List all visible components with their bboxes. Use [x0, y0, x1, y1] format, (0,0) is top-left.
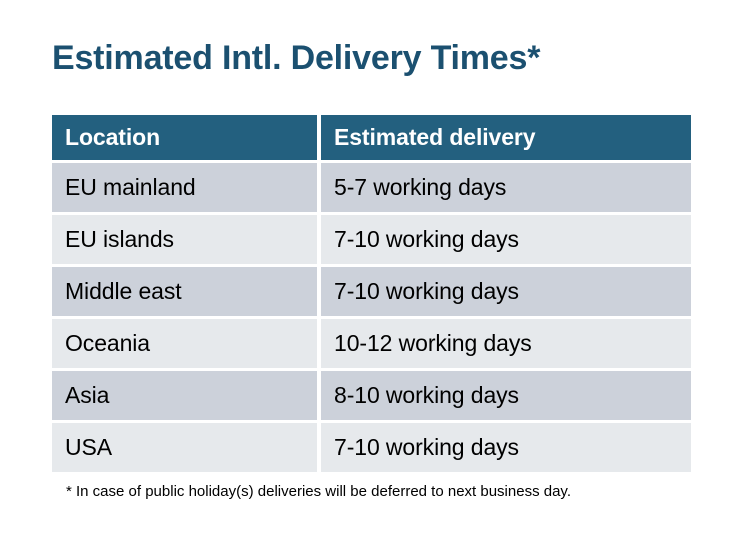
column-header-location: Location — [52, 115, 317, 160]
cell-location: Middle east — [52, 267, 317, 316]
table-row: Asia 8-10 working days — [52, 371, 691, 420]
cell-estimated-delivery: 5-7 working days — [321, 163, 691, 212]
cell-estimated-delivery: 7-10 working days — [321, 215, 691, 264]
table-row: USA 7-10 working days — [52, 423, 691, 472]
cell-location: USA — [52, 423, 317, 472]
page-title: Estimated Intl. Delivery Times* — [52, 36, 692, 80]
cell-estimated-delivery: 7-10 working days — [321, 267, 691, 316]
cell-location: EU islands — [52, 215, 317, 264]
table-header-row: Location Estimated delivery — [52, 115, 691, 160]
cell-location: EU mainland — [52, 163, 317, 212]
footnote-text: * In case of public holiday(s) deliverie… — [66, 482, 726, 502]
cell-estimated-delivery: 7-10 working days — [321, 423, 691, 472]
cell-estimated-delivery: 10-12 working days — [321, 319, 691, 368]
table-row: Oceania 10-12 working days — [52, 319, 691, 368]
cell-location: Asia — [52, 371, 317, 420]
cell-location: Oceania — [52, 319, 317, 368]
cell-estimated-delivery: 8-10 working days — [321, 371, 691, 420]
delivery-times-page: Estimated Intl. Delivery Times* Location… — [0, 0, 745, 536]
table-row: EU islands 7-10 working days — [52, 215, 691, 264]
table-row: Middle east 7-10 working days — [52, 267, 691, 316]
table-row: EU mainland 5-7 working days — [52, 163, 691, 212]
delivery-times-table: Location Estimated delivery EU mainland … — [52, 115, 691, 475]
column-header-estimated-delivery: Estimated delivery — [321, 115, 691, 160]
